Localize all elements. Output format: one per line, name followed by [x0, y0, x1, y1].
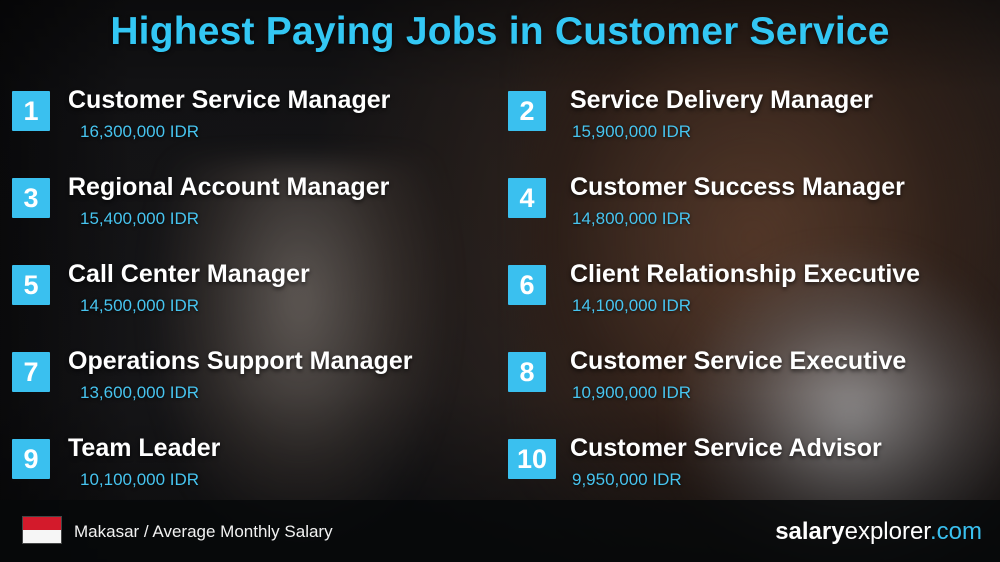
job-title: Customer Service Executive	[570, 347, 906, 376]
job-salary: 13,600,000 IDR	[80, 383, 199, 403]
job-title: Client Relationship Executive	[570, 260, 920, 289]
page-title: Highest Paying Jobs in Customer Service	[0, 10, 1000, 54]
job-salary: 10,900,000 IDR	[572, 383, 691, 403]
list-item: 8 Customer Service Executive 10,900,000 …	[508, 339, 998, 426]
job-title: Team Leader	[68, 434, 220, 463]
job-salary: 15,400,000 IDR	[80, 209, 199, 229]
job-salary: 14,100,000 IDR	[572, 296, 691, 316]
job-salary: 9,950,000 IDR	[572, 470, 682, 490]
job-title: Customer Service Advisor	[570, 434, 882, 463]
job-title: Service Delivery Manager	[570, 86, 873, 115]
job-salary: 15,900,000 IDR	[572, 122, 691, 142]
rank-badge: 3	[12, 178, 50, 218]
brand-explorer: explorer	[845, 518, 930, 545]
list-item: 1 Customer Service Manager 16,300,000 ID…	[12, 78, 502, 165]
list-item: 5 Call Center Manager 14,500,000 IDR	[12, 252, 502, 339]
brand-tld: .com	[930, 518, 982, 545]
job-title: Regional Account Manager	[68, 173, 389, 202]
rank-badge: 5	[12, 265, 50, 305]
rank-badge: 4	[508, 178, 546, 218]
job-list-column-right: 2 Service Delivery Manager 15,900,000 ID…	[508, 78, 998, 513]
brand-salary: salary	[775, 518, 844, 545]
rank-badge: 1	[12, 91, 50, 131]
job-salary: 14,800,000 IDR	[572, 209, 691, 229]
list-item: 6 Client Relationship Executive 14,100,0…	[508, 252, 998, 339]
rank-badge: 7	[12, 352, 50, 392]
rank-badge: 8	[508, 352, 546, 392]
job-salary: 16,300,000 IDR	[80, 122, 199, 142]
job-title: Customer Success Manager	[570, 173, 905, 202]
rank-badge: 2	[508, 91, 546, 131]
flag-stripe-red	[23, 517, 61, 530]
salary-infographic: Highest Paying Jobs in Customer Service …	[0, 0, 1000, 562]
job-list-column-left: 1 Customer Service Manager 16,300,000 ID…	[12, 78, 502, 513]
rank-badge: 6	[508, 265, 546, 305]
footer-bar: Makasar / Average Monthly Salary salarye…	[0, 500, 1000, 562]
job-title: Operations Support Manager	[68, 347, 412, 376]
rank-badge: 10	[508, 439, 556, 479]
job-title: Customer Service Manager	[68, 86, 390, 115]
rank-badge: 9	[12, 439, 50, 479]
brand-logo[interactable]: salaryexplorer.com	[775, 518, 982, 546]
list-item: 4 Customer Success Manager 14,800,000 ID…	[508, 165, 998, 252]
indonesia-flag-icon	[22, 516, 62, 544]
list-item: 7 Operations Support Manager 13,600,000 …	[12, 339, 502, 426]
footer-caption: Makasar / Average Monthly Salary	[74, 522, 333, 542]
job-salary: 10,100,000 IDR	[80, 470, 199, 490]
job-list: 1 Customer Service Manager 16,300,000 ID…	[0, 78, 1000, 498]
job-title: Call Center Manager	[68, 260, 310, 289]
job-salary: 14,500,000 IDR	[80, 296, 199, 316]
list-item: 2 Service Delivery Manager 15,900,000 ID…	[508, 78, 998, 165]
flag-stripe-white	[23, 530, 61, 543]
list-item: 3 Regional Account Manager 15,400,000 ID…	[12, 165, 502, 252]
